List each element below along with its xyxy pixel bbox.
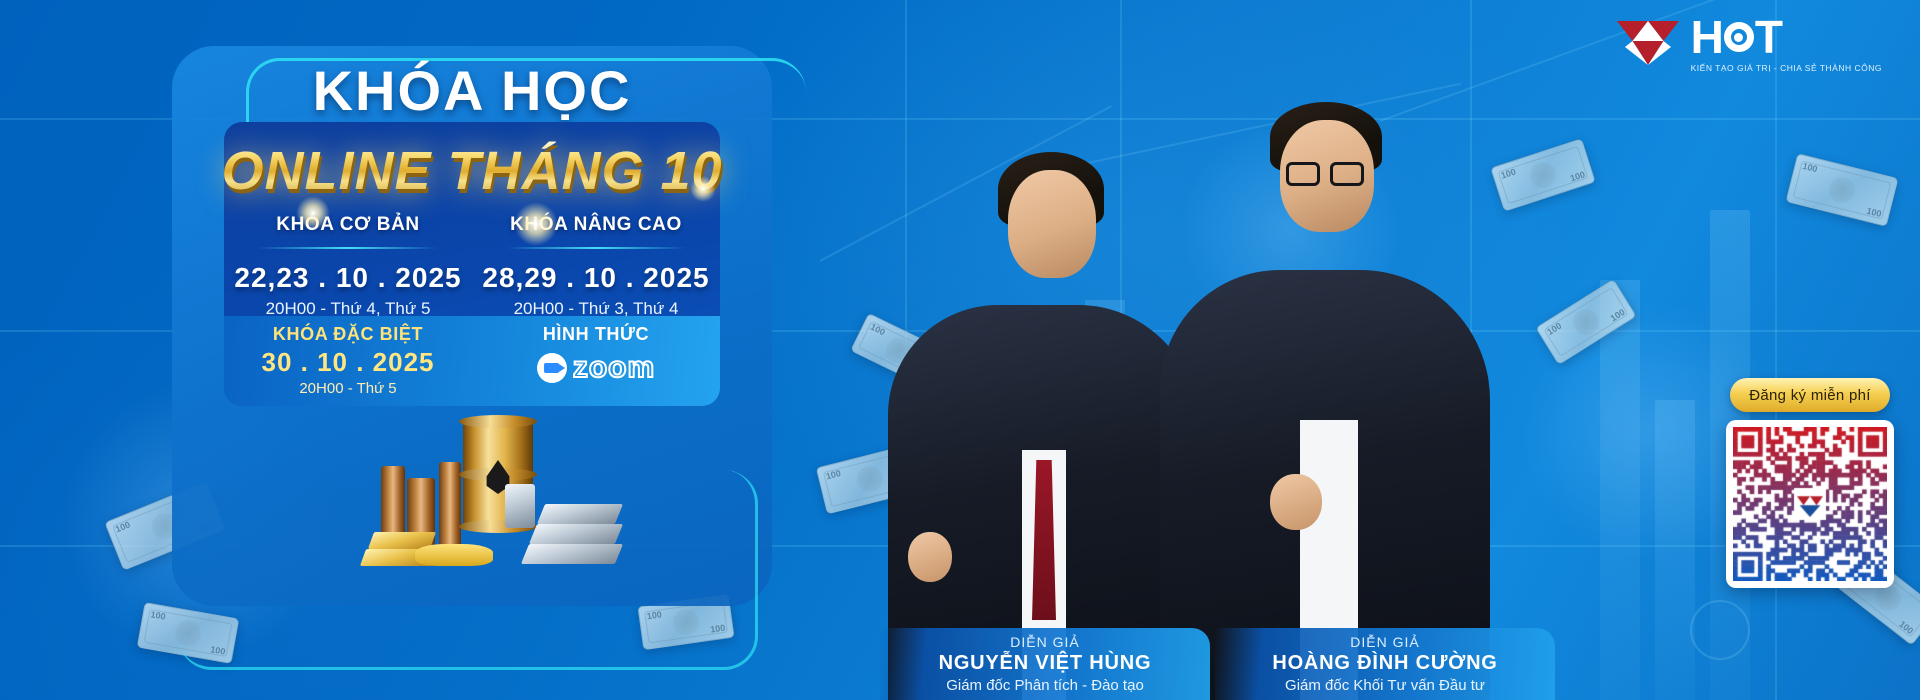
special-time: 20H00 - Thứ 5 — [224, 380, 472, 397]
speaker-photo-2 — [1150, 100, 1500, 700]
register-button[interactable]: Đăng ký miễn phí — [1730, 378, 1890, 412]
page-title: KHÓA HỌC — [172, 58, 772, 123]
hct-logo[interactable]: H T KIẾN TẠO GIÁ TRỊ - CHIA SẺ THÀNH CÔN… — [1617, 14, 1882, 73]
schedule-column-basic: KHÓA CƠ BẢN 22,23 . 10 . 2025 20H00 - Th… — [224, 214, 472, 319]
logo-letter-h: H — [1691, 14, 1723, 60]
format-header: HÌNH THỨC — [472, 324, 720, 345]
zoom-wordmark: zoom — [573, 351, 655, 385]
schedule-column-special: KHÓA ĐẶC BIỆT 30 . 10 . 2025 20H00 - Thứ… — [224, 316, 472, 406]
column-divider — [506, 247, 686, 249]
schedule-column-format: HÌNH THỨC zoom — [472, 316, 720, 406]
schedule-columns: KHÓA CƠ BẢN 22,23 . 10 . 2025 20H00 - Th… — [224, 214, 720, 319]
zoom-logo: zoom — [472, 351, 720, 385]
course-subtitle: ONLINE THÁNG 10 — [172, 140, 772, 202]
logo-tagline: KIẾN TẠO GIÁ TRỊ - CHIA SẺ THÀNH CÔNG — [1691, 64, 1882, 73]
commodities-illustration — [355, 418, 655, 578]
column-divider — [258, 247, 438, 249]
eyeglasses-icon — [1330, 162, 1364, 186]
speaker-nameplate-2: DIỄN GIẢ HOÀNG ĐÌNH CƯỜNG Giám đốc Khối … — [1215, 628, 1555, 700]
hct-wordmark: H T KIẾN TẠO GIÁ TRỊ - CHIA SẺ THÀNH CÔN… — [1691, 14, 1882, 73]
special-date: 30 . 10 . 2025 — [224, 347, 472, 378]
qr-code[interactable] — [1726, 420, 1894, 588]
logo-letter-c-icon — [1724, 22, 1754, 52]
speaker-role: DIỄN GIẢ — [1215, 634, 1555, 650]
promo-banner: 100100 100100 100100 100100 100100 10010… — [0, 0, 1920, 700]
speaker-role: DIỄN GIẢ — [880, 634, 1210, 650]
schedule-table-bottom: KHÓA ĐẶC BIỆT 30 . 10 . 2025 20H00 - Thứ… — [224, 316, 720, 406]
speaker-title: Giám đốc Khối Tư vấn Đầu tư — [1215, 677, 1555, 694]
column-date: 22,23 . 10 . 2025 — [232, 262, 464, 294]
sparkle-icon — [690, 176, 716, 202]
speaker-name: NGUYỄN VIỆT HÙNG — [880, 652, 1210, 675]
eyeglasses-icon — [1286, 162, 1320, 186]
column-date: 28,29 . 10 . 2025 — [480, 262, 712, 294]
schedule-column-advanced: KHÓA NÂNG CAO 28,29 . 10 . 2025 20H00 - … — [472, 214, 720, 319]
sparkle-icon — [296, 196, 330, 230]
video-camera-icon — [537, 353, 567, 383]
speaker-title: Giám đốc Phân tích - Đào tạo — [880, 677, 1210, 694]
qr-code-canvas — [1733, 427, 1887, 581]
special-header: KHÓA ĐẶC BIỆT — [224, 324, 472, 345]
logo-letter-t: T — [1755, 14, 1782, 60]
sparkle-icon — [514, 202, 558, 246]
speaker-name: HOÀNG ĐÌNH CƯỜNG — [1215, 652, 1555, 675]
column-header: KHÓA CƠ BẢN — [232, 214, 464, 236]
hct-diamond-icon — [1617, 17, 1679, 69]
register-button-label: Đăng ký miễn phí — [1749, 387, 1871, 404]
speaker-nameplate-1: DIỄN GIẢ NGUYỄN VIỆT HÙNG Giám đốc Phân … — [880, 628, 1210, 700]
